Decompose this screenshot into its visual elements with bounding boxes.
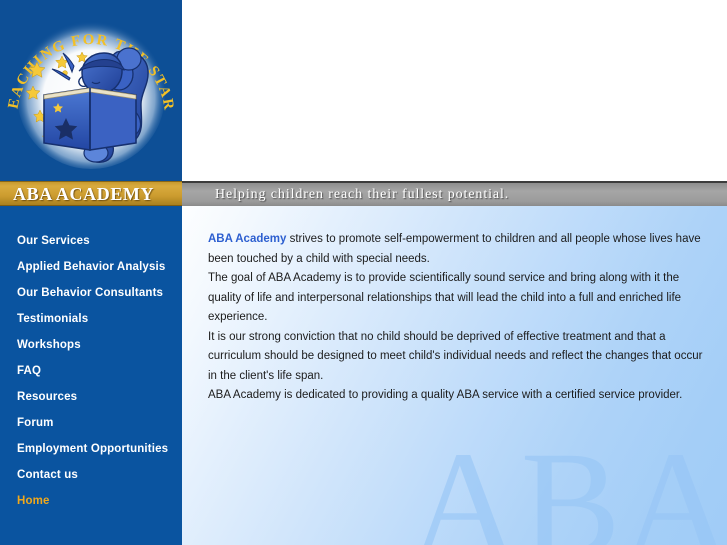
- site-logo[interactable]: REACHING FOR THE STARS: [0, 0, 182, 181]
- tagline-band: Helping children reach their fullest pot…: [182, 181, 727, 206]
- paragraph-conviction: It is our strong conviction that no chil…: [208, 328, 705, 387]
- sidebar-item-testimonials[interactable]: Testimonials: [0, 306, 182, 332]
- logo-illustration-icon: REACHING FOR THE STARS: [0, 0, 182, 181]
- aba-watermark: ABA: [410, 429, 727, 545]
- paragraph-dedication: ABA Academy is dedicated to providing a …: [208, 386, 705, 406]
- sidebar-item-faq[interactable]: FAQ: [0, 358, 182, 384]
- sidebar-item-employment-opportunities[interactable]: Employment Opportunities: [0, 436, 182, 462]
- sidebar-item-applied-behavior-analysis[interactable]: Applied Behavior Analysis: [0, 254, 182, 280]
- page-root: REACHING FOR THE STARS: [0, 0, 727, 545]
- aba-academy-link[interactable]: ABA Academy: [208, 233, 286, 245]
- sidebar-item-contact-us[interactable]: Contact us: [0, 462, 182, 488]
- sidebar-nav: Our Services Applied Behavior Analysis O…: [0, 206, 182, 545]
- tagline-text: Helping children reach their fullest pot…: [182, 188, 509, 202]
- logo-book-icon: [44, 88, 136, 150]
- intro-copy: ABA Academy strives to promote self-empo…: [182, 206, 727, 406]
- sidebar-item-forum[interactable]: Forum: [0, 410, 182, 436]
- brand-band: ABA ACADEMY: [0, 181, 182, 206]
- header-white-area: [182, 0, 727, 181]
- sidebar-item-resources[interactable]: Resources: [0, 384, 182, 410]
- sidebar-item-our-services[interactable]: Our Services: [0, 228, 182, 254]
- paragraph-intro: ABA Academy strives to promote self-empo…: [208, 230, 705, 269]
- sidebar-item-home[interactable]: Home: [0, 488, 182, 514]
- sidebar-item-workshops[interactable]: Workshops: [0, 332, 182, 358]
- paragraph-goal: The goal of ABA Academy is to provide sc…: [208, 269, 705, 328]
- brand-title: ABA ACADEMY: [0, 185, 154, 203]
- sidebar-item-our-behavior-consultants[interactable]: Our Behavior Consultants: [0, 280, 182, 306]
- main-content: ABA ABA Academy strives to promote self-…: [182, 206, 727, 545]
